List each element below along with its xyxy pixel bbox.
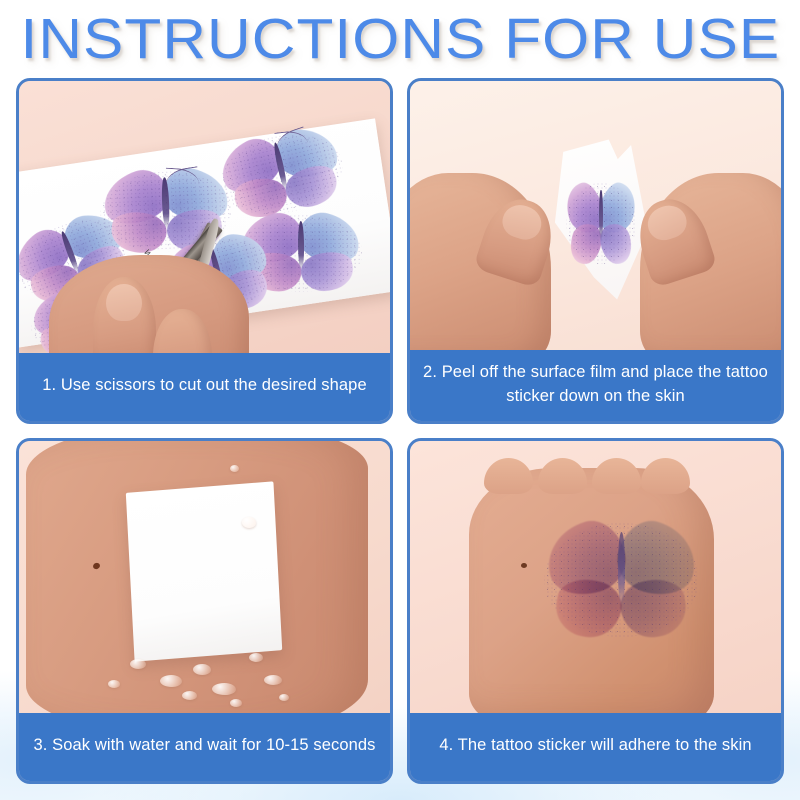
paper-backing xyxy=(126,482,283,662)
step-2-photo xyxy=(410,81,781,350)
instruction-steps-grid: WS-C231 1. Use scissors to cut out the d… xyxy=(0,78,800,800)
step-card-1[interactable]: WS-C231 1. Use scissors to cut out the d… xyxy=(16,78,393,424)
butterfly-icon xyxy=(566,183,636,264)
step-1-caption: 1. Use scissors to cut out the desired s… xyxy=(19,353,390,421)
step-card-2[interactable]: 2. Peel off the surface film and place t… xyxy=(407,78,784,424)
step-2-caption: 2. Peel off the surface film and place t… xyxy=(410,350,781,421)
step-card-3[interactable]: 3. Soak with water and wait for 10-15 se… xyxy=(16,438,393,784)
step-card-4[interactable]: 4. The tattoo sticker will adhere to the… xyxy=(407,438,784,784)
step-3-caption: 3. Soak with water and wait for 10-15 se… xyxy=(19,713,390,781)
butterfly-icon xyxy=(213,124,350,225)
header-bar: INSTRUCTIONS FOR USE xyxy=(0,0,800,78)
step-3-photo xyxy=(19,441,390,713)
page-title: INSTRUCTIONS FOR USE xyxy=(20,6,780,72)
step-4-caption: 4. The tattoo sticker will adhere to the… xyxy=(410,713,781,781)
butterfly-tattoo xyxy=(544,523,700,637)
step-1-photo: WS-C231 xyxy=(19,81,390,353)
step-4-photo xyxy=(410,441,781,713)
